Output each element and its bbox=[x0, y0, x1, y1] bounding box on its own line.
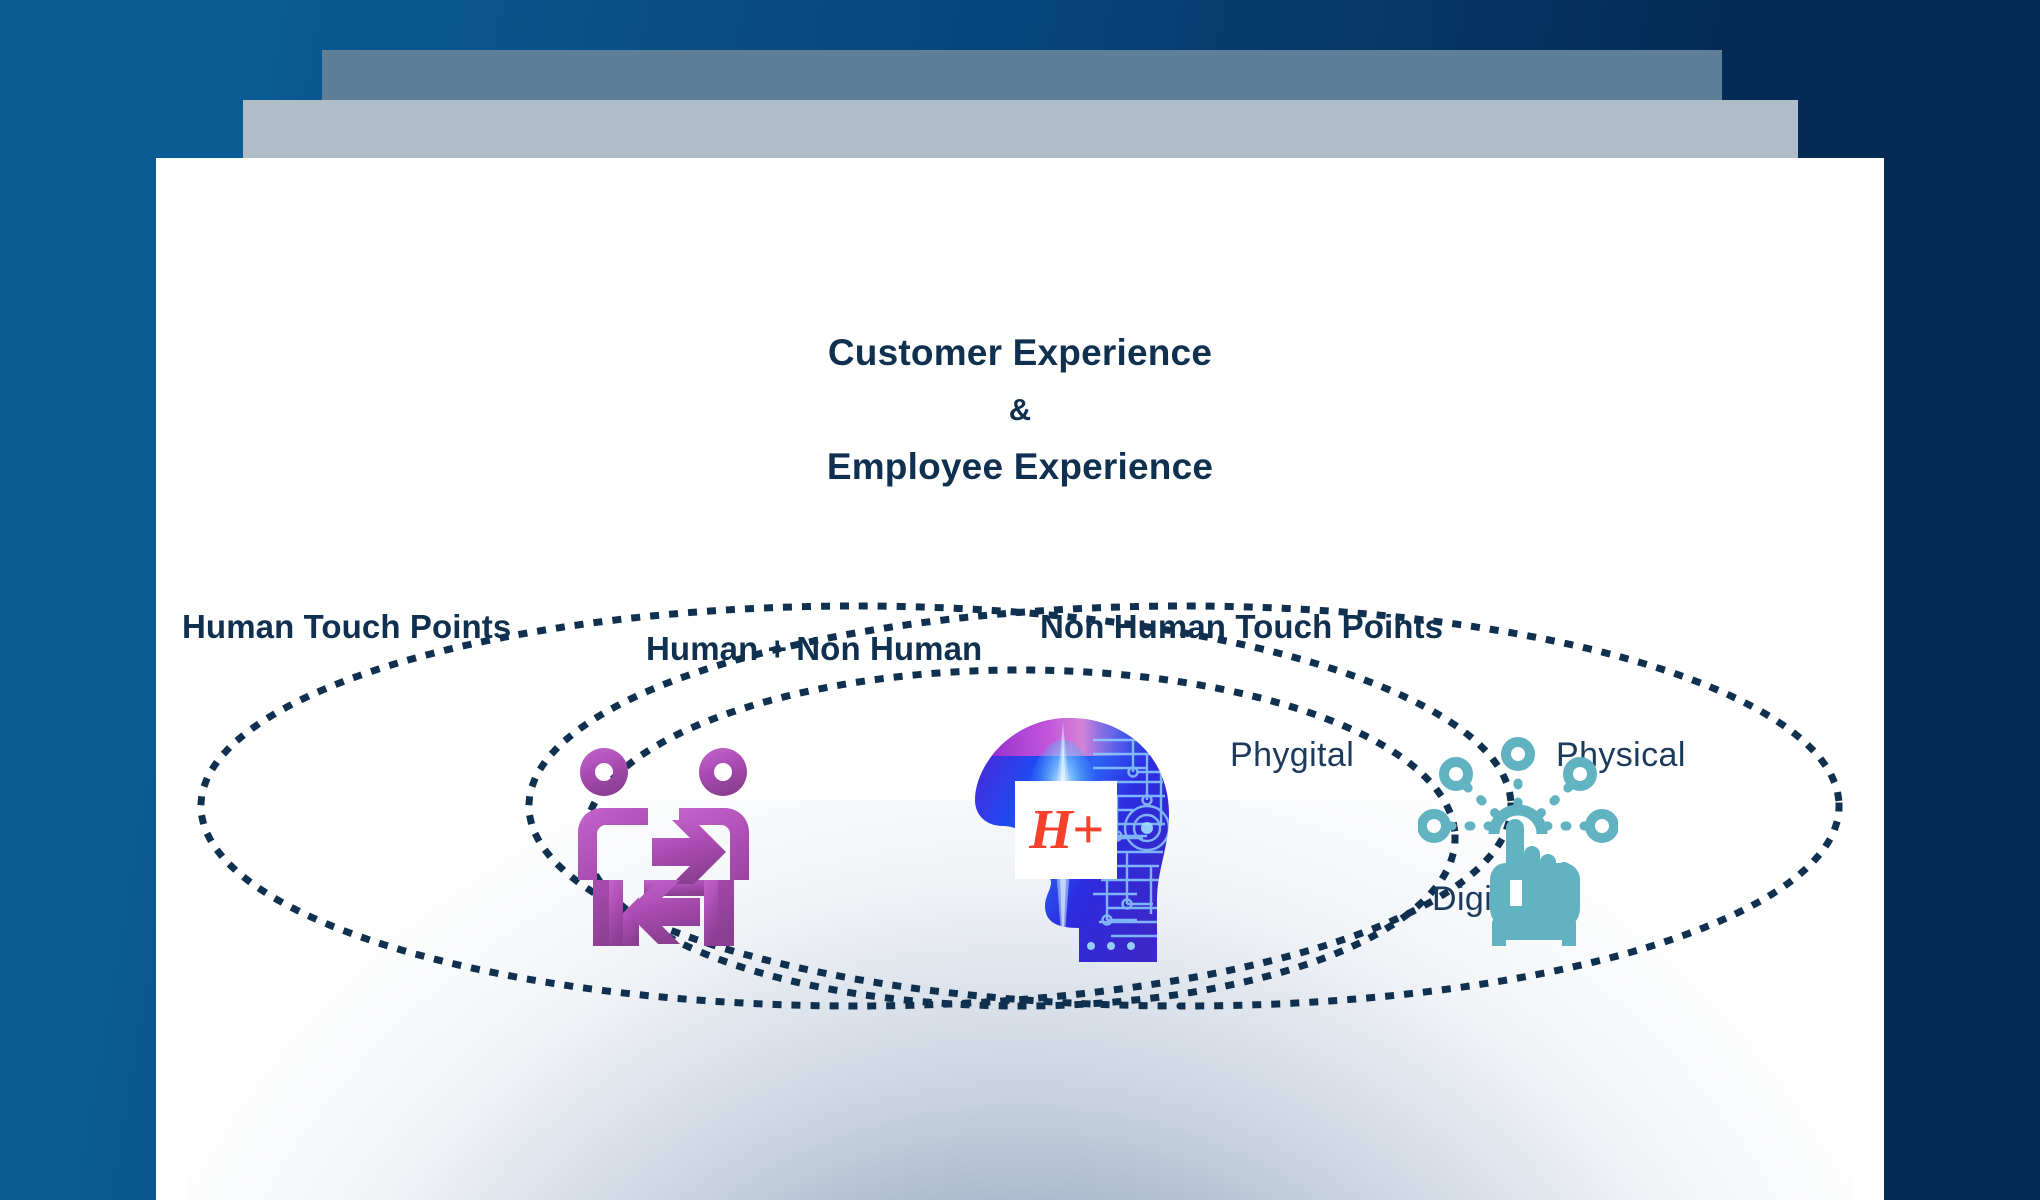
slide-card: Customer Experience & Employee Experienc… bbox=[156, 158, 1884, 1200]
label-non-human-touch-points: Non Human Touch Points bbox=[1040, 608, 1443, 646]
label-human-touch-points: Human Touch Points bbox=[182, 608, 511, 646]
hand-touch-network-icon bbox=[1418, 730, 1618, 950]
label-phygital: Phygital bbox=[1230, 736, 1354, 775]
h-plus-plate: H+ bbox=[1015, 781, 1117, 879]
venn-diagram bbox=[156, 158, 1884, 1200]
ai-human-head-circuit-icon: H+ bbox=[941, 710, 1191, 970]
h-plus-text: H+ bbox=[1029, 802, 1102, 858]
label-human-plus-non-human: Human + Non Human bbox=[646, 630, 982, 668]
two-people-exchange-icon bbox=[556, 728, 796, 968]
